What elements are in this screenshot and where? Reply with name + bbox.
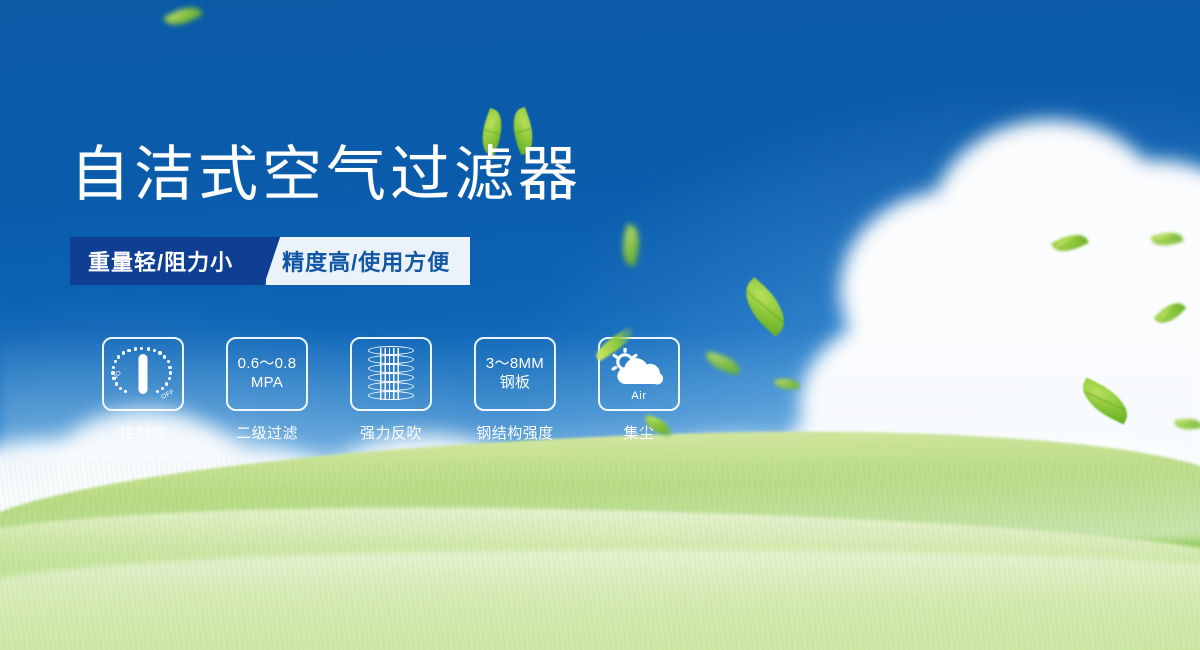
feature-item-strong-blowback[interactable]: 强力反吹 bbox=[329, 337, 453, 443]
steel-plate-text-icon: 3～8MM 钢板 bbox=[486, 355, 544, 393]
control-dial-icon: NO OFF bbox=[112, 345, 174, 403]
feature-label: 强力反吹 bbox=[360, 422, 422, 443]
feature-icon-box: 0.6～0.8 MPA bbox=[226, 337, 308, 411]
feature-icon-box: NO OFF bbox=[102, 337, 184, 411]
feature-label: 二级过滤 bbox=[236, 422, 298, 443]
air-label: Air bbox=[608, 390, 670, 402]
subtitle-bar: 重量轻/阻力小 精度高/使用方便 bbox=[70, 237, 470, 285]
feature-icon-box bbox=[350, 337, 432, 411]
dial-needle-icon bbox=[139, 354, 148, 394]
feature-item-steel-structure[interactable]: 3～8MM 钢板 钢结构强度 bbox=[453, 337, 577, 443]
subtitle-badge-primary: 重量轻/阻力小 bbox=[70, 237, 255, 285]
feature-list: NO OFF 控制仪 0.6～0.8 MPA 二级过滤 bbox=[81, 337, 701, 443]
cloud-sun-glyph bbox=[608, 348, 670, 390]
air-cloud-icon: Air bbox=[608, 346, 670, 402]
filter-cartridge-icon bbox=[368, 346, 414, 402]
feature-item-two-stage-filter[interactable]: 0.6～0.8 MPA 二级过滤 bbox=[205, 337, 329, 443]
page-title: 自洁式空气过滤器 bbox=[70, 140, 582, 209]
feature-icon-box: Air bbox=[598, 337, 680, 411]
feature-label: 控制仪 bbox=[120, 422, 167, 443]
feature-label: 钢结构强度 bbox=[476, 422, 554, 443]
feature-item-control-unit[interactable]: NO OFF 控制仪 bbox=[81, 337, 205, 443]
pressure-text-icon: 0.6～0.8 MPA bbox=[238, 355, 297, 393]
dial-label-off: OFF bbox=[160, 388, 176, 401]
subtitle-badge-secondary: 精度高/使用方便 bbox=[266, 237, 470, 285]
feature-item-dust-collection[interactable]: Air 集尘 bbox=[577, 337, 701, 443]
feature-icon-box: 3～8MM 钢板 bbox=[474, 337, 556, 411]
product-banner: 自洁式空气过滤器 重量轻/阻力小 精度高/使用方便 bbox=[0, 0, 1200, 650]
